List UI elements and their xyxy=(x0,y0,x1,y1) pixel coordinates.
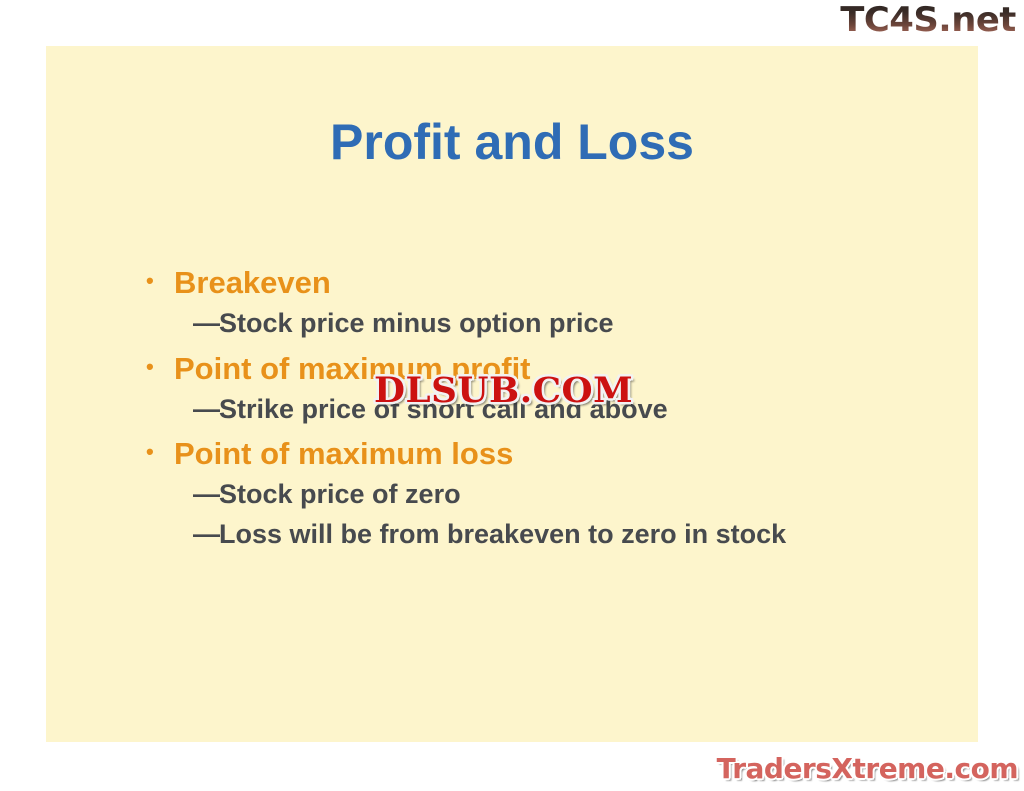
list-item-level1-label: Point of maximum loss xyxy=(174,433,513,475)
brand-watermark-bottom: TradersXtreme.com xyxy=(717,754,1018,785)
list-item-level2-label: Stock price of zero xyxy=(219,475,461,514)
bullet-dot-icon: • xyxy=(146,356,174,378)
list-item-level2: — Stock price of zero xyxy=(146,475,966,514)
list-item-level1: • Point of maximum loss xyxy=(146,433,966,475)
bullet-dot-icon: • xyxy=(146,441,174,463)
em-dash-icon: — xyxy=(193,475,219,514)
overlay-watermark: DLSUB.COM xyxy=(374,372,633,411)
list-item-level2: — Stock price minus option price xyxy=(146,304,966,343)
page-title: Profit and Loss xyxy=(46,116,978,169)
slide-stage: Profit and Loss • Breakeven — Stock pric… xyxy=(0,0,1024,791)
em-dash-icon: — xyxy=(193,515,219,554)
list-item-level1: • Breakeven xyxy=(146,262,966,304)
em-dash-icon: — xyxy=(193,390,219,429)
list-item-level1-label: Breakeven xyxy=(174,262,331,304)
bullet-group: • Point of maximum loss — Stock price of… xyxy=(146,433,966,554)
brand-watermark-top: TC4S.net xyxy=(841,2,1016,39)
list-item-level2-label: Loss will be from breakeven to zero in s… xyxy=(219,515,786,554)
list-item-level2: — Loss will be from breakeven to zero in… xyxy=(146,515,966,554)
em-dash-icon: — xyxy=(193,304,219,343)
list-item-level2-label: Stock price minus option price xyxy=(219,304,614,343)
bullet-dot-icon: • xyxy=(146,270,174,292)
bullet-group: • Breakeven — Stock price minus option p… xyxy=(146,262,966,344)
